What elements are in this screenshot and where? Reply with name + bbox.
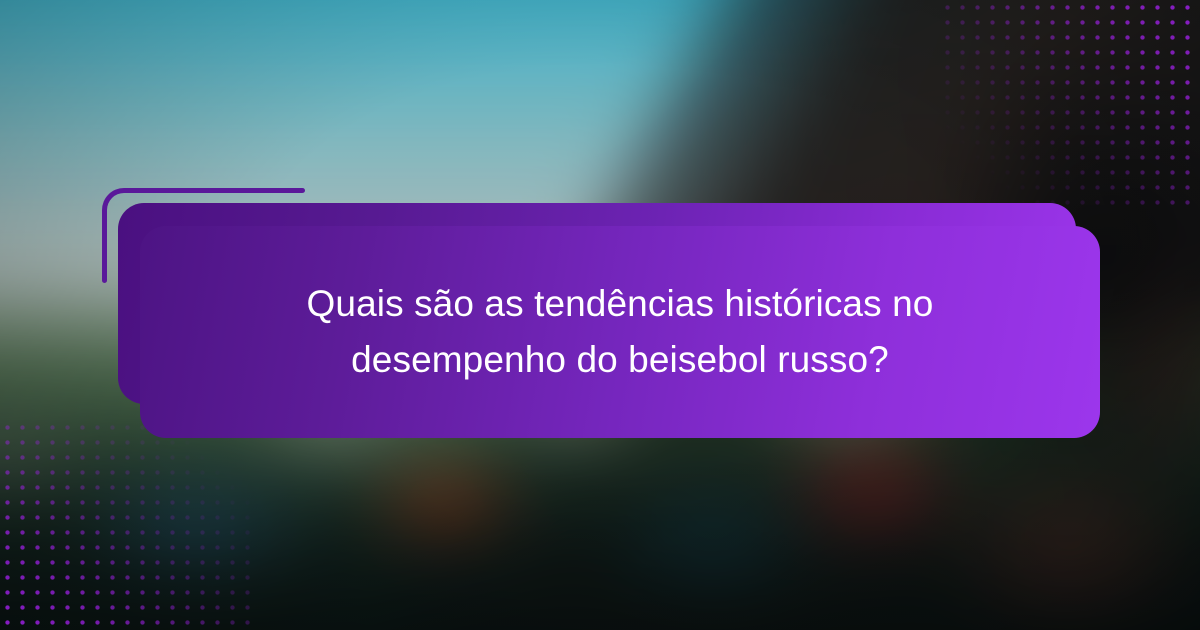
question-card: Quais são as tendências históricas no de… <box>140 226 1100 438</box>
social-card-canvas: Quais são as tendências históricas no de… <box>0 0 1200 630</box>
question-headline: Quais são as tendências históricas no de… <box>270 276 970 388</box>
